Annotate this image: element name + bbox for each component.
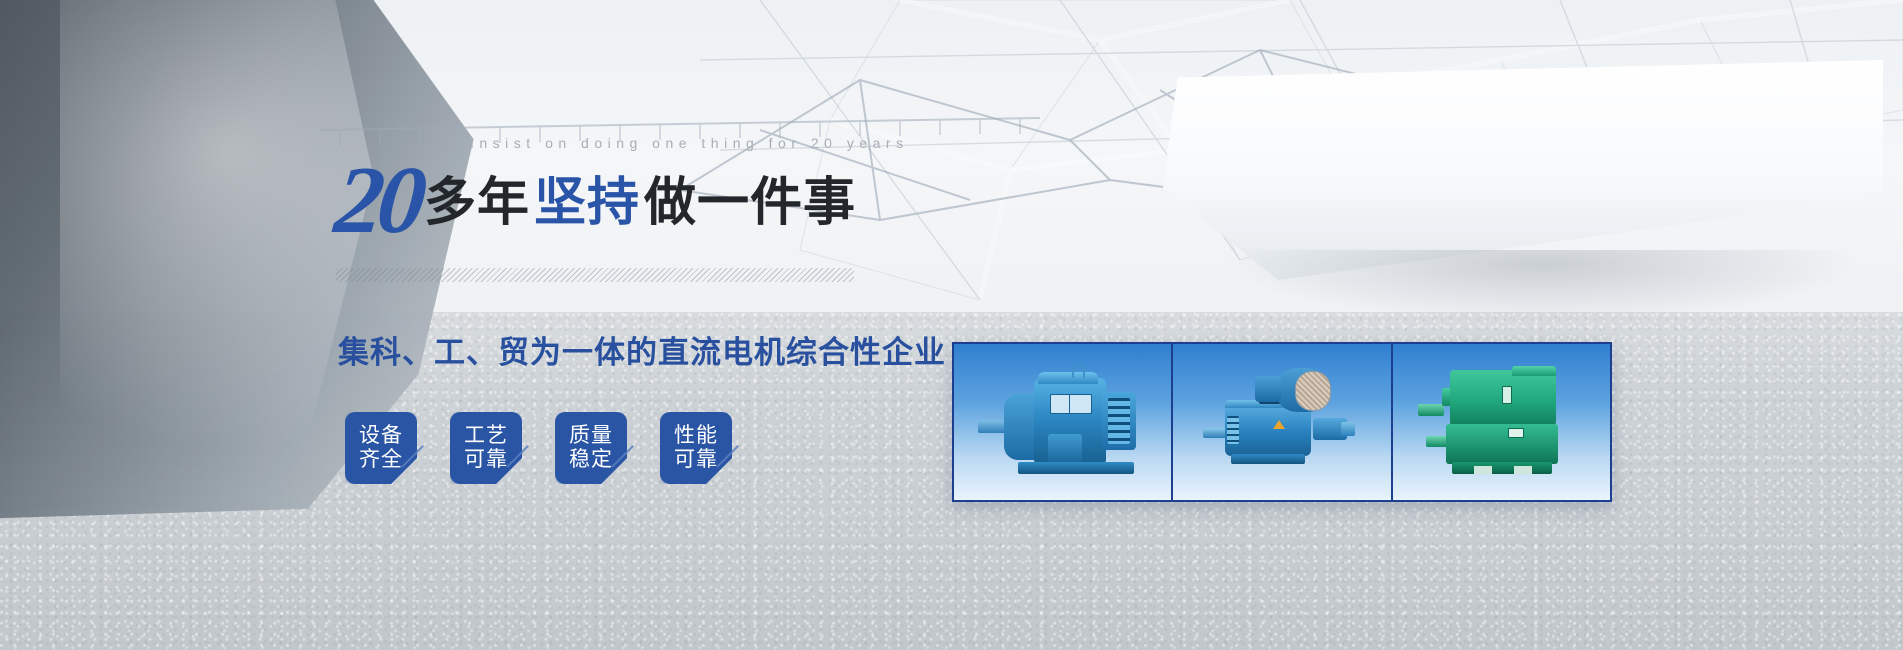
headline-segment-2: 坚持	[534, 177, 640, 229]
headline-segment-1: 多年	[424, 177, 530, 229]
blower-filter-mesh	[1295, 371, 1331, 411]
product-cell-blue-dc-motor[interactable]	[954, 344, 1173, 500]
headline: 20多年坚持做一件事	[336, 152, 856, 248]
product-showcase-panel	[952, 342, 1612, 502]
motor-terminal-box	[1048, 434, 1082, 464]
motor-base-feet	[1452, 462, 1552, 474]
badge-slot: 设备 齐全	[345, 412, 417, 484]
blue-dc-motor-image	[978, 364, 1148, 480]
motor-lifting-hook	[1072, 364, 1085, 378]
product-cell-green-dc-motor[interactable]	[1393, 344, 1610, 500]
badge-accent-slash-icon	[400, 462, 434, 496]
blower-motor	[1255, 376, 1281, 402]
motor-label	[1508, 428, 1524, 438]
motor-coupling-end	[1341, 422, 1355, 436]
badge-slot: 性能 可靠	[660, 412, 732, 484]
badge-accent-slash-icon	[610, 462, 644, 496]
badge-line-1: 工艺	[464, 424, 508, 448]
motor-cooling-fins	[1102, 392, 1136, 450]
motor-shaft-lower	[1426, 436, 1448, 447]
motor-nameplate	[1502, 386, 1512, 404]
green-dc-motor-image	[1416, 364, 1586, 480]
badge-line-1: 质量	[569, 424, 613, 448]
badge-line-2: 稳定	[569, 448, 613, 472]
product-cell-blue-motor-with-blower[interactable]	[1173, 344, 1392, 500]
badge-accent-slash-icon	[715, 462, 749, 496]
feature-badge-list: 设备 齐全 工艺 可靠 质量 稳定	[345, 412, 732, 484]
headline-number: 20	[331, 152, 425, 248]
badge-line-1: 性能	[674, 424, 718, 448]
badge-line-1: 设备	[359, 424, 403, 448]
motor-shaft-upper	[1418, 404, 1444, 416]
badge-slot: 质量 稳定	[555, 412, 627, 484]
english-tagline: Insist on doing one thing for 20 years	[470, 135, 909, 151]
motor-base-frame	[1231, 454, 1305, 464]
promo-banner: 20多年坚持做一件事 Insist on doing one thing for…	[0, 0, 1903, 650]
badge-line-2: 齐全	[359, 448, 403, 472]
badge-slot: 工艺 可靠	[450, 412, 522, 484]
motor-base-frame	[1018, 462, 1134, 474]
motor-cooling-fins	[1227, 416, 1239, 444]
badge-line-2: 可靠	[464, 448, 508, 472]
motor-top-cap	[1512, 366, 1556, 376]
badge-line-2: 可靠	[674, 448, 718, 472]
diagonal-hatch-divider	[336, 268, 854, 282]
subtitle: 集科、工、贸为一体的直流电机综合性企业	[338, 327, 946, 372]
motor-top-cover	[1038, 372, 1098, 384]
headline-segment-3: 做一件事	[644, 177, 856, 229]
motor-nameplate	[1050, 394, 1092, 414]
motor-lower-housing	[1446, 424, 1558, 464]
badge-accent-slash-icon	[505, 462, 539, 496]
warning-triangle-icon	[1273, 420, 1285, 429]
blue-motor-with-blower-image	[1197, 364, 1367, 480]
banner-content: 20多年坚持做一件事 Insist on doing one thing for…	[0, 0, 1903, 650]
